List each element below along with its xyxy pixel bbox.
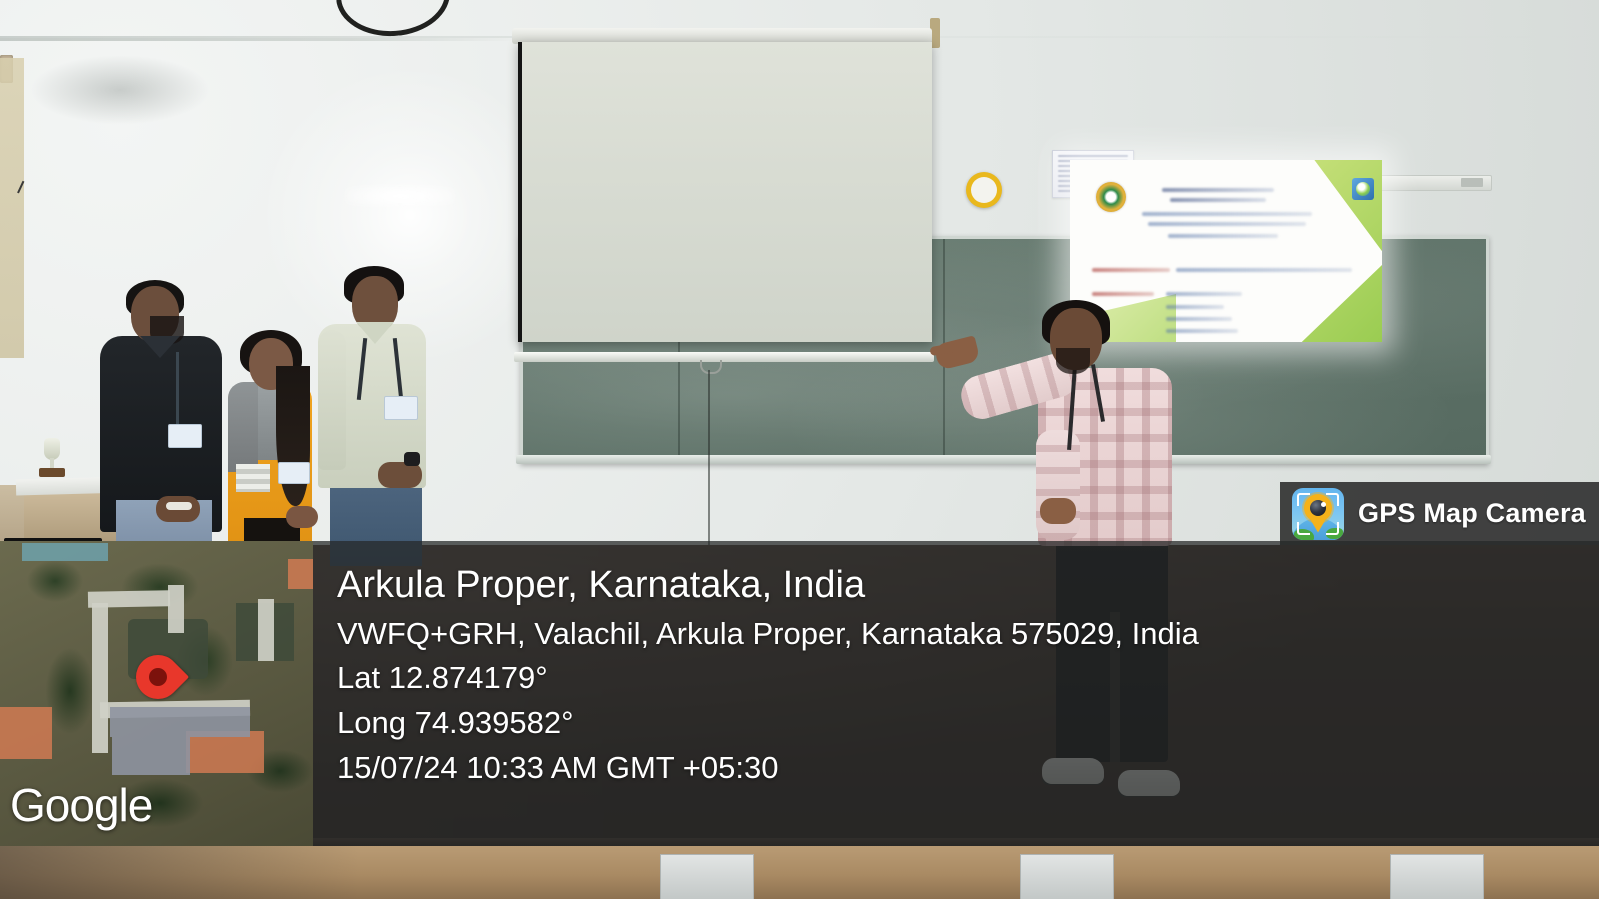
projected-slide (1070, 160, 1382, 342)
wall-vent (1372, 175, 1492, 191)
department-logo-icon (1352, 178, 1374, 200)
full-address: VWFQ+GRH, Valachil, Arkula Proper, Karna… (337, 612, 1587, 657)
timestamp-value: 15/07/24 10:33 AM GMT +05:30 (337, 746, 1587, 791)
wristwatch (404, 452, 420, 466)
gps-camera-pin-icon (1292, 488, 1344, 540)
map-building-roof (258, 599, 274, 661)
gps-app-name: GPS Map Camera (1358, 498, 1586, 529)
screen-bottom-bar (514, 352, 934, 362)
institution-logo-icon (1096, 182, 1126, 212)
trophy-icon (44, 438, 60, 460)
map-ground (288, 559, 313, 589)
wall-seam-left (0, 38, 520, 41)
bench-panel (1390, 854, 1484, 899)
map-building-roof (168, 585, 184, 633)
trophy-base (39, 468, 65, 477)
gps-map-camera-watermark: GPS Map Camera (1280, 482, 1599, 545)
tubelight-glare (345, 185, 455, 207)
ceiling-cable (333, 0, 452, 40)
screen-cord (708, 370, 710, 560)
bench-panel (1020, 854, 1114, 899)
map-ground (0, 707, 52, 759)
wall-clock-icon (966, 172, 1002, 208)
map-water (22, 543, 108, 561)
map-building (112, 737, 190, 775)
id-badge (384, 396, 418, 420)
door-frame-left (0, 58, 24, 358)
place-name: Arkula Proper, Karnataka, India (337, 560, 1587, 612)
wall-smudge (30, 55, 210, 125)
latitude-value: Lat 12.874179° (337, 656, 1587, 701)
map-building-roof (92, 603, 108, 753)
projection-screen (518, 42, 932, 342)
location-text-block: Arkula Proper, Karnataka, India VWFQ+GRH… (337, 560, 1587, 790)
bench-panel (660, 854, 754, 899)
screen-pull-handle (700, 360, 722, 374)
bench-shadow (0, 846, 360, 899)
id-badge (278, 462, 310, 484)
chalkboard-ledge (516, 455, 1491, 464)
map-building (110, 707, 250, 737)
longitude-value: Long 74.939582° (337, 701, 1587, 746)
gps-map-camera-photo: GPS Map Camera Google Arkula Proper, Kar… (0, 0, 1599, 899)
google-watermark: Google (10, 778, 152, 832)
id-badge (168, 424, 202, 448)
map-ground (186, 731, 264, 773)
